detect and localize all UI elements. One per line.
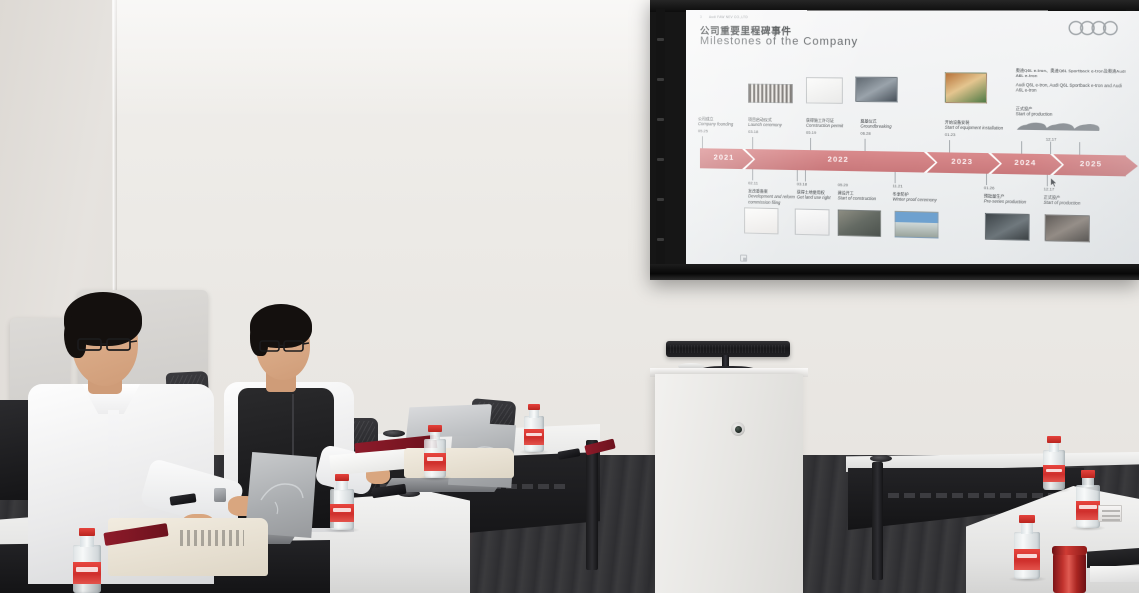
milestone-below-2-en: Start of construction — [838, 196, 888, 203]
timeline-bar: 2021 2022 2023 2024 — [700, 148, 1126, 176]
bottle-neck-7 — [1021, 522, 1033, 534]
tote-bag — [108, 518, 268, 576]
attendee-front-watch — [214, 488, 226, 502]
milestone-below-3: 11.21 冬季防护 Winter proof ceremony — [893, 182, 951, 204]
tick-above-0 — [702, 136, 703, 148]
tick-above-4 — [949, 140, 950, 152]
car-silhouettes-icon — [1016, 119, 1100, 134]
thumb-filing-document — [744, 207, 778, 234]
water-bottle-right-b — [1076, 470, 1100, 528]
milestone-below-5-en: Start of production — [1044, 200, 1100, 207]
paper-right — [1090, 566, 1139, 582]
callout-models-cn: 奥迪Q6L e-tron、奥迪Q6L Sportback e-tron及奥迪Au… — [1016, 68, 1128, 80]
timeline-chevron-1 — [742, 149, 755, 169]
tick-above-7 — [1079, 142, 1080, 155]
thumb-site-construction — [838, 209, 881, 237]
meeting-room-scene: 3 Audi FAW NEV CO.,LTD 公司重要里程碑事件 Milesto… — [0, 0, 1139, 593]
table-center-leg-right — [586, 440, 598, 570]
milestone-below-4-en: Pre-series production — [984, 199, 1039, 206]
milestone-below-4: 01.26 预批量生产 Pre-series production — [984, 184, 1039, 206]
timeline-year-2023-label: 2023 — [930, 156, 994, 166]
timeline-chevron-4 — [1050, 154, 1064, 175]
milestone-below-1-en: Get land use right — [797, 195, 838, 202]
milestone-below-3-en: Winter proof ceremony — [893, 197, 951, 204]
slide-footer-icon — [740, 255, 747, 262]
thermos-flask — [1053, 553, 1086, 593]
water-bottle-right-a — [1043, 436, 1065, 490]
callout-models: 奥迪Q6L e-tron、奥迪Q6L Sportback e-tron及奥迪Au… — [1016, 68, 1128, 95]
thumb-land-use-drawing — [795, 209, 830, 236]
thumb-production-line — [1045, 214, 1090, 242]
bottle-cap — [79, 528, 96, 536]
milestone-above-1-date: 03.18 — [748, 129, 801, 135]
timeline-year-2021-label: 2021 — [700, 152, 748, 162]
bottle-label — [73, 562, 101, 583]
slide-page-number: 3 — [700, 15, 702, 19]
table-right-far-leg — [872, 462, 883, 580]
callout-date-value: 12.17 — [1046, 136, 1089, 142]
cable-grommet-5 — [383, 430, 405, 437]
attendee-front-glasses-icon — [76, 336, 138, 354]
water-bottle-front — [73, 528, 101, 593]
thermos-lid — [1052, 546, 1086, 555]
bottle-cap-6 — [1081, 470, 1095, 478]
timeline-year-2024: 2024 — [994, 153, 1056, 175]
bottle-neck-4 — [529, 409, 539, 418]
bottle-label-2 — [330, 504, 354, 522]
mouse-cursor-icon — [1050, 177, 1058, 189]
screen-tension-rail-left — [656, 8, 665, 270]
milestone-above-3: 奠基仪式 Groundbreaking 06.28 — [860, 118, 912, 136]
bottle-cap-7 — [1019, 515, 1035, 523]
tick-above-1 — [752, 137, 753, 149]
milestone-below-2-date: 05.20 — [838, 182, 888, 188]
timeline-year-2024-label: 2024 — [994, 157, 1056, 167]
milestone-above-3-date: 06.28 — [860, 131, 912, 137]
projection-screen: 3 Audi FAW NEV CO.,LTD 公司重要里程碑事件 Milesto… — [650, 0, 1139, 280]
cable-grommet-6 — [870, 455, 892, 462]
av-cabinet — [655, 374, 803, 593]
milestone-above-4: 开始设备安装 Start of equipment installation 0… — [945, 119, 1015, 137]
bottle-label-5 — [1043, 465, 1065, 483]
water-bottle-center — [330, 474, 354, 530]
callout-models-en: Audi Q6L e-tron, Audi Q6L Sportback e-tr… — [1016, 82, 1128, 95]
water-bottle-right-c — [1014, 515, 1040, 579]
tick-above-5 — [1021, 141, 1022, 153]
milestone-above-4-date: 01.23 — [945, 132, 1015, 138]
bottle-cap-2 — [335, 474, 349, 481]
modesty-vent-slots — [872, 493, 1061, 498]
callout-date: 12.17 — [1046, 135, 1089, 142]
milestone-below-1-date: 03.18 — [797, 181, 838, 187]
thumb-launch-ceremony — [748, 84, 793, 104]
milestone-above-3-en: Groundbreaking — [860, 124, 912, 131]
thumb-construction-permit — [806, 77, 843, 104]
milestone-above-4-en: Start of equipment installation — [945, 125, 1015, 132]
bottle-label-4 — [524, 429, 544, 445]
bottle-neck-5 — [1049, 442, 1060, 452]
callout-sop-en: Start of production — [1016, 111, 1102, 118]
bottle-cap-4 — [528, 404, 540, 410]
milestone-above-2-date: 05.19 — [806, 130, 859, 136]
bottle-cap-5 — [1047, 436, 1060, 443]
attendee-back-glasses-icon — [258, 338, 310, 354]
slide-top-meta: 3 Audi FAW NEV CO.,LTD — [700, 15, 748, 19]
milestone-above-2-en: Construction permit — [806, 123, 859, 130]
bottle-neck-2 — [336, 480, 348, 490]
thumb-equipment-installation — [945, 72, 987, 103]
bottle-neck-3 — [430, 431, 441, 441]
tick-above-2 — [810, 138, 811, 150]
bottle-neck-6 — [1082, 476, 1094, 486]
slide-canvas: 3 Audi FAW NEV CO.,LTD 公司重要里程碑事件 Milesto… — [686, 10, 1139, 279]
milestone-above-1-en: Launch ceremony — [748, 122, 801, 128]
bottle-label-7 — [1014, 549, 1040, 570]
milestone-below-0-date: 02.11 — [748, 180, 797, 186]
milestone-below-0-en: Development and reform commission filing — [748, 194, 797, 207]
timeline-year-2023: 2023 — [930, 152, 994, 174]
milestone-above-1: 项目启动仪式 Launch ceremony 03.18 — [748, 117, 801, 135]
cabinet-camera-icon — [731, 422, 745, 436]
milestone-below-3-date: 11.21 — [893, 183, 951, 189]
audi-rings-logo — [1067, 20, 1126, 36]
milestone-below-4-date: 01.26 — [984, 185, 1039, 191]
soundbar-speaker-grill — [670, 345, 786, 353]
thumb-pre-series-line — [985, 213, 1030, 241]
timeline-end-arrow — [1125, 155, 1138, 176]
slide-company-line: Audi FAW NEV CO.,LTD — [709, 15, 748, 19]
thumb-groundbreaking — [855, 77, 897, 103]
tick-above-3 — [865, 139, 866, 151]
tote-bag-print — [180, 530, 244, 546]
timeline-year-2025-label: 2025 — [1056, 158, 1125, 169]
bottle-cap-3 — [428, 425, 441, 432]
slide-title-english: Milestones of the Company — [700, 35, 858, 48]
milestone-below-0: 02.11 发改委备案 Development and reform commi… — [748, 179, 797, 206]
timeline-year-2022: 2022 — [748, 149, 930, 173]
water-bottle-far — [524, 404, 544, 452]
bottle-neck — [80, 535, 93, 547]
callout-start-of-production: 正式投产 Start of production — [1016, 106, 1102, 118]
milestone-below-1: 03.18 获得土地使用权 Get land use right — [797, 180, 838, 201]
milestone-above-2: 获得施工许可证 Construction permit 05.19 — [806, 118, 859, 136]
tick-above-6 — [1050, 142, 1051, 154]
wall-outlet-plate[interactable] — [1098, 505, 1122, 522]
timeline-chevron-3 — [988, 153, 1002, 174]
laptop-lid-artwork — [255, 472, 309, 516]
tote-bag-center — [404, 448, 514, 478]
thumb-winter-site — [895, 211, 939, 239]
timeline-year-2025: 2025 — [1056, 154, 1125, 176]
milestone-below-2: 05.20 建设开工 Start of construction — [838, 181, 888, 202]
bottle-label-6 — [1076, 501, 1100, 520]
bottle-label-3 — [424, 453, 446, 470]
laptop-far-lid[interactable] — [406, 404, 492, 438]
water-bottle-mid — [424, 425, 446, 478]
timeline-year-2021: 2021 — [700, 148, 748, 169]
slide-footer-brand: 奥迪一汽 — [1102, 265, 1126, 273]
timeline-chevron-2 — [924, 152, 938, 173]
timeline-year-2022-label: 2022 — [748, 153, 930, 165]
